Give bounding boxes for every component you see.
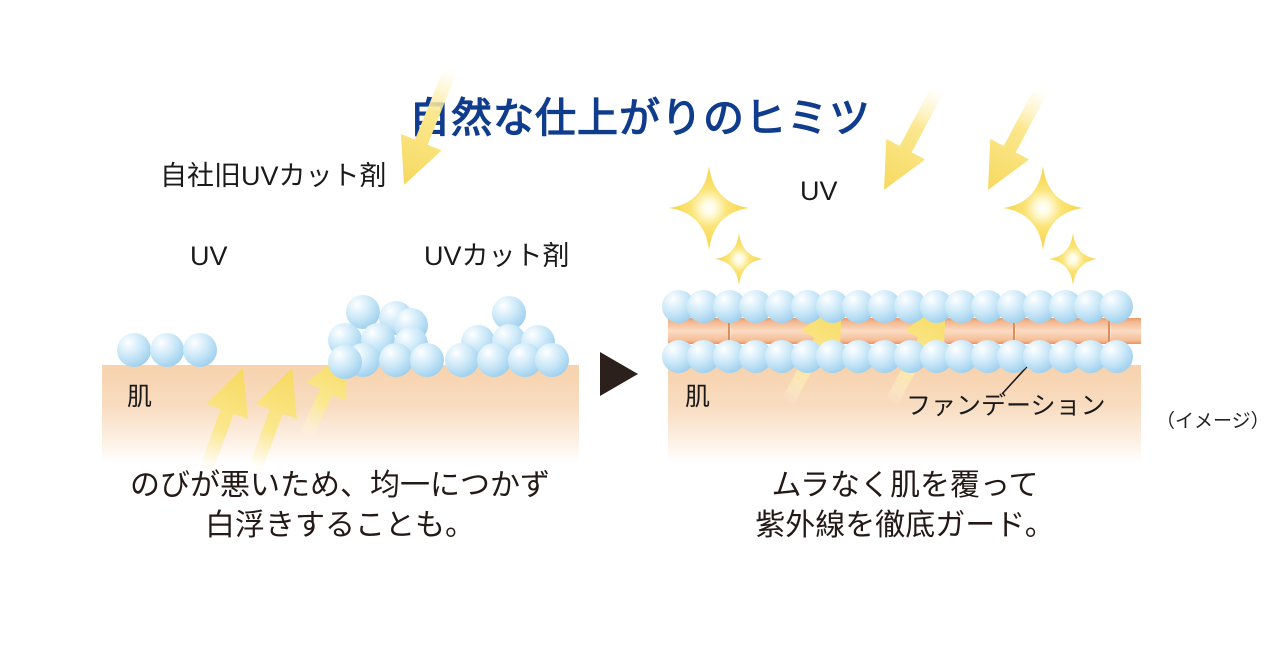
- uv-blocker-particle: [1100, 340, 1133, 373]
- uv-blocker-particle: [150, 333, 184, 367]
- caption-left-line2: 白浮きすることも。: [90, 506, 590, 546]
- image-disclaimer-note: （イメージ）: [1156, 412, 1270, 431]
- uv-blocker-particle: [1100, 290, 1133, 323]
- label-uv-right: UV: [800, 178, 838, 205]
- uv-blocker-particle: [445, 343, 479, 377]
- label-uv-left: UV: [190, 243, 228, 270]
- caption-left: のびが悪いため、均一につかず 白浮きすることも。: [90, 466, 590, 545]
- uv-blocker-particle: [535, 343, 569, 377]
- uv-blocker-particle: [410, 343, 444, 377]
- skin-label-right: 肌: [685, 385, 710, 410]
- uv-blocker-particle: [117, 333, 151, 367]
- caption-left-line1: のびが悪いため、均一につかず: [90, 466, 590, 506]
- caption-right: ムラなく肌を覆って 紫外線を徹底ガード。: [650, 466, 1160, 545]
- uv-blocker-particle: [379, 343, 413, 377]
- infographic-canvas: 自然な仕上がりのヒミツ 肌 自社旧UVカット剤 UV UVカット剤 のびが悪いた…: [0, 0, 1280, 649]
- caption-right-line2: 紫外線を徹底ガード。: [650, 506, 1160, 546]
- transition-triangle-icon: [600, 352, 638, 396]
- uv-blocker-particle: [477, 343, 511, 377]
- page-title: 自然な仕上がりのヒミツ: [0, 84, 1280, 144]
- label-foundation: ファンデーション: [906, 394, 1106, 419]
- label-uv-agent: UVカット剤: [424, 243, 570, 270]
- uv-blocker-particle: [328, 345, 362, 379]
- caption-right-line1: ムラなく肌を覆って: [650, 466, 1160, 506]
- sparkle-star: [1049, 233, 1097, 285]
- skin-label-left: 肌: [127, 385, 152, 410]
- label-old-uv-agent: 自社旧UVカット剤: [160, 163, 387, 190]
- sparkle-star: [715, 233, 763, 285]
- uv-blocker-particle: [183, 333, 217, 367]
